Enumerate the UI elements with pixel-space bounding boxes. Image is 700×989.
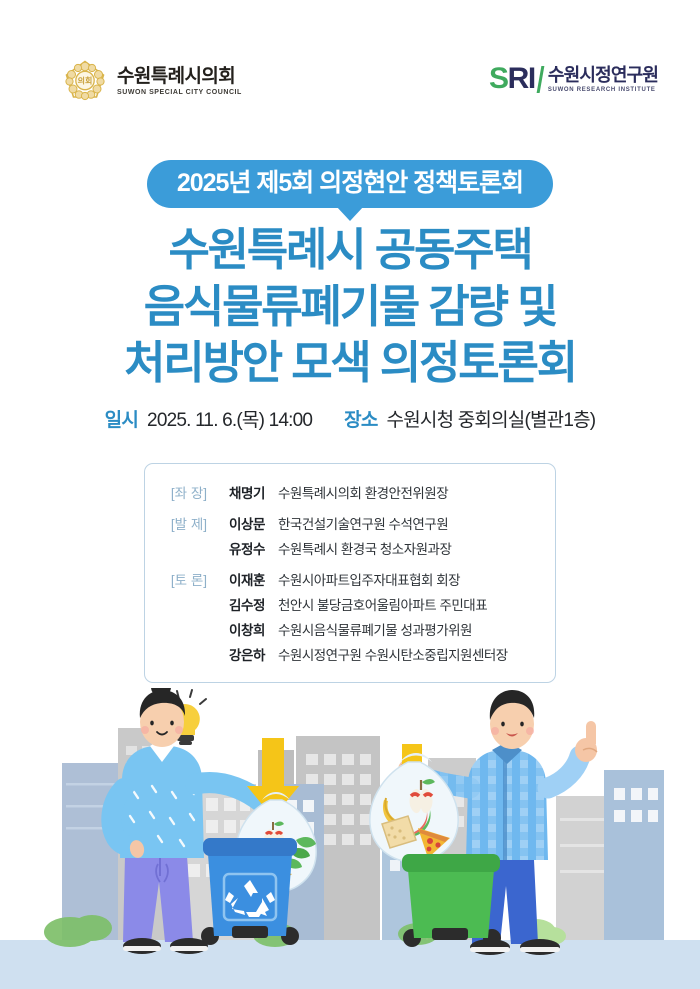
program-group-discussants: [토 론] 이재훈 수원시아파트입주자대표협회 회장 김수정 천안시 불당금호어… [145,569,541,664]
date-label: 일시 [105,405,138,432]
sri-divider [536,66,544,93]
recycle-bin-blue [201,838,299,945]
page-title-line-1: 수원특례시 공동주택 [0,222,700,279]
place-value: 수원시청 중회의실(별관1층) [387,405,596,432]
council-emblem-icon: 의회 [62,58,108,104]
program-person-affiliation: 수원시정연구원 수원시탄소중립지원센터장 [265,644,541,664]
sri-logo-text: 수원시정연구원 SUWON RESEARCH INSTITUTE [548,66,658,93]
page-title-line-2: 음식물류폐기물 감량 및 [0,279,700,336]
sri-wordmark-ri: RI [508,62,535,95]
program-row: 강은하 수원시정연구원 수원시탄소중립지원센터장 [145,644,541,664]
program-person-affiliation: 수원특례시의회 환경안전위원장 [265,482,541,502]
ribbon-banner-wrap: 2025년 제5회 의정현안 정책토론회 [0,160,700,208]
sri-logo: SRI 수원시정연구원 SUWON RESEARCH INSTITUTE [489,64,658,94]
program-person-name: 채명기 [207,482,265,502]
program-row: [토 론] 이재훈 수원시아파트입주자대표협회 회장 [145,569,541,589]
program-person-name: 이상문 [207,513,265,533]
program-person-affiliation: 수원시음식물류폐기물 성과평가위원 [265,619,541,639]
program-panel: [좌 장] 채명기 수원특례시의회 환경안전위원장 [발 제] 이상문 한국건설… [144,463,556,683]
program-row: 이창희 수원시음식물류폐기물 성과평가위원 [145,619,541,639]
ribbon-pointer-icon [336,206,364,221]
illustration [0,688,700,989]
ribbon-label: 2025년 제5회 의정현안 정책토론회 [177,169,523,197]
program-person-name: 강은하 [207,644,265,664]
program-person-name: 김수정 [207,594,265,614]
svg-text:의회: 의회 [78,76,93,86]
program-person-name: 이재훈 [207,569,265,589]
page-title-line-3: 처리방안 모색 의정토론회 [0,335,700,392]
council-logo-subtitle: SUWON SPECIAL CITY COUNCIL [117,89,242,96]
date-value: 2025. 11. 6.(목) 14:00 [147,405,312,432]
program-row: [좌 장] 채명기 수원특례시의회 환경안전위원장 [145,482,541,502]
sri-logo-name: 수원시정연구원 [548,66,658,84]
food-waste-bin-green [402,854,501,947]
sri-wordmark: SRI [489,64,535,94]
event-meta-row: 일시 2025. 11. 6.(목) 14:00 장소 수원시청 중회의실(별관… [0,405,700,432]
ground-strip [0,940,700,989]
program-role-tag: [토 론] [145,569,207,589]
program-person-name: 이창희 [207,619,265,639]
program-row: 유정수 수원특례시 환경국 청소자원과장 [145,538,541,558]
program-row: [발 제] 이상문 한국건설기술연구원 수석연구원 [145,513,541,533]
program-person-name: 유정수 [207,538,265,558]
program-role-tag: [발 제] [145,513,207,533]
suwon-council-logo: 의회 수원특례시의회 SUWON SPECIAL CITY COUNCIL [62,58,242,104]
ribbon-banner: 2025년 제5회 의정현안 정책토론회 [147,160,553,208]
poster-root: 의회 수원특례시의회 SUWON SPECIAL CITY COUNCIL SR… [0,0,700,989]
page-title: 수원특례시 공동주택 음식물류폐기물 감량 및 처리방안 모색 의정토론회 [0,222,700,392]
logo-row: 의회 수원특례시의회 SUWON SPECIAL CITY COUNCIL SR… [0,58,700,114]
sri-wordmark-s: S [489,62,508,95]
program-role-tag: [좌 장] [145,482,207,502]
program-person-affiliation: 수원시아파트입주자대표협회 회장 [265,569,541,589]
sri-logo-subtitle: SUWON RESEARCH INSTITUTE [548,87,658,93]
program-group-chair: [좌 장] 채명기 수원특례시의회 환경안전위원장 [145,482,541,502]
program-person-affiliation: 한국건설기술연구원 수석연구원 [265,513,541,533]
council-logo-text: 수원특례시의회 SUWON SPECIAL CITY COUNCIL [117,67,242,96]
council-logo-name: 수원특례시의회 [117,67,242,86]
program-person-affiliation: 천안시 불당금호어울림아파트 주민대표 [265,594,541,614]
program-group-presenters: [발 제] 이상문 한국건설기술연구원 수석연구원 유정수 수원특례시 환경국 … [145,513,541,558]
program-person-affiliation: 수원특례시 환경국 청소자원과장 [265,538,541,558]
place-label: 장소 [344,405,377,432]
program-row: 김수정 천안시 불당금호어울림아파트 주민대표 [145,594,541,614]
